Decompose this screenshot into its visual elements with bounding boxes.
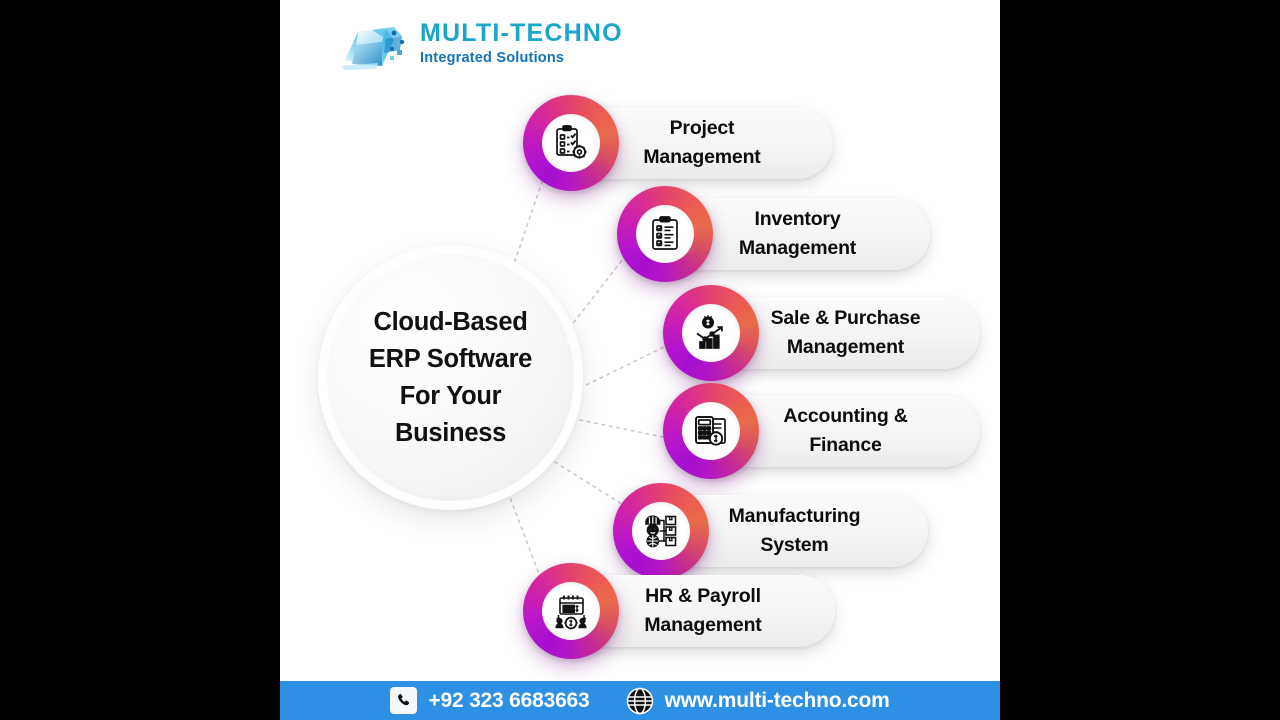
website-url: www.multi-techno.com (665, 689, 890, 713)
contact-footer-bar: +92 323 6683663 www.multi-techno.com (280, 681, 1000, 720)
money-growth-chart-icon (682, 304, 740, 362)
feature-icon-ring[interactable] (617, 186, 713, 282)
feature-label: Sale & Purchase Management (757, 304, 935, 362)
clipboard-checklist-gear-icon (542, 114, 600, 172)
logo-name: MULTI-TECHNO (420, 18, 632, 48)
factory-worker-boxes-icon (632, 502, 690, 560)
center-headline: Cloud-Based ERP Software For Your Busine… (343, 304, 558, 452)
logo-tagline: Integrated Solutions (420, 48, 632, 68)
phone-number: +92 323 6683663 (428, 689, 589, 713)
phone-contact[interactable]: +92 323 6683663 (390, 687, 589, 714)
calculator-invoice-dollar-icon (682, 402, 740, 460)
feature-icon-ring[interactable] (523, 563, 619, 659)
multi-techno-cube-icon (342, 20, 414, 72)
feature-label: Manufacturing System (715, 502, 875, 560)
feature-hr-payroll-management[interactable]: HR & Payroll Management (523, 563, 835, 659)
calendar-people-payroll-icon (542, 582, 600, 640)
brand-logo[interactable]: MULTI-TECHNO Integrated Solutions (342, 16, 632, 78)
feature-label: Project Management (629, 114, 774, 172)
feature-icon-ring[interactable] (663, 383, 759, 479)
globe-icon (626, 687, 654, 715)
feature-label: HR & Payroll Management (630, 582, 775, 640)
feature-project-management[interactable]: Project Management (523, 95, 833, 191)
feature-icon-ring[interactable] (663, 285, 759, 381)
center-hero-circle: Cloud-Based ERP Software For Your Busine… (318, 245, 583, 510)
feature-inventory-management[interactable]: Inventory Management (617, 186, 930, 282)
feature-sale-purchase-management[interactable]: Sale & Purchase Management (663, 285, 980, 381)
clipboard-inventory-list-icon (636, 205, 694, 263)
feature-icon-ring[interactable] (523, 95, 619, 191)
feature-label: Accounting & Finance (769, 402, 921, 460)
feature-label: Inventory Management (725, 205, 870, 263)
website-contact[interactable]: www.multi-techno.com (600, 687, 890, 715)
feature-accounting-finance[interactable]: Accounting & Finance (663, 383, 980, 479)
phone-icon (390, 687, 417, 714)
screenshot-stage: MULTI-TECHNO Integrated Solutions Projec… (0, 0, 1280, 720)
